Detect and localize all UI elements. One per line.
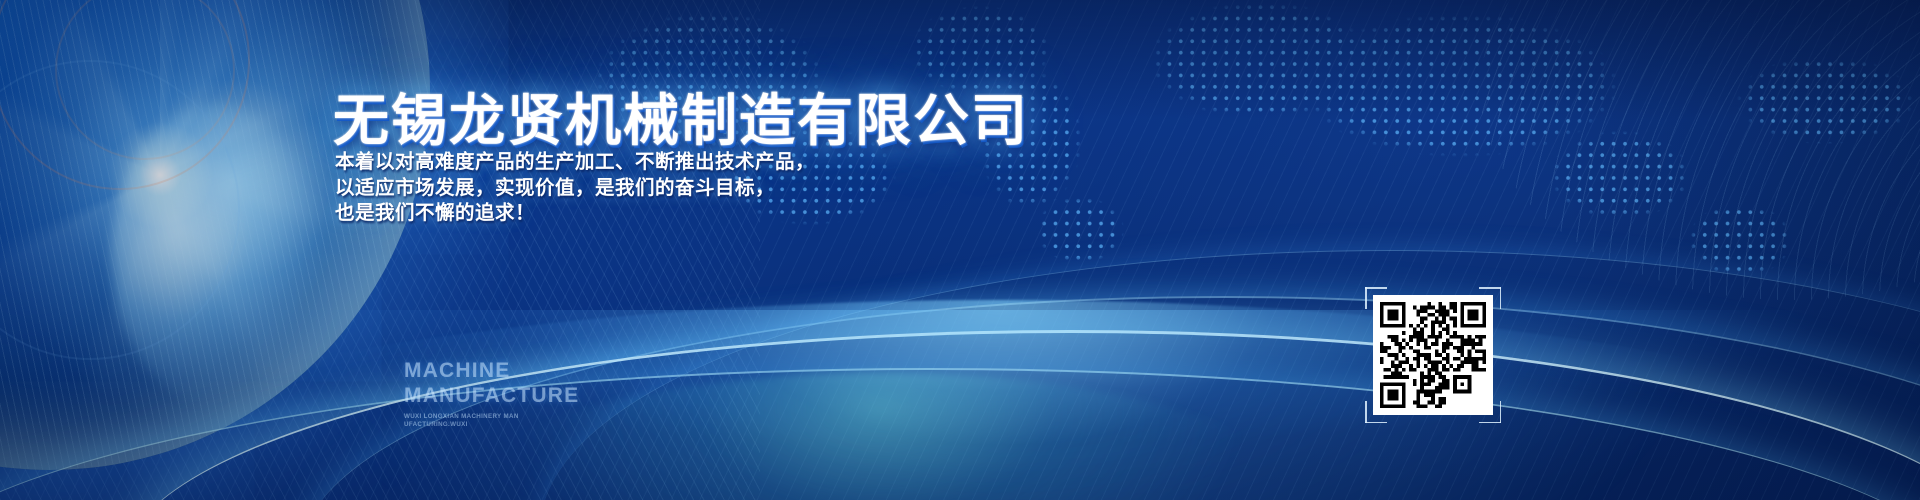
tagline-line-2: 以适应市场发展，实现价值，是我们的奋斗目标， [335, 176, 815, 202]
tagline-line-1: 本着以对高难度产品的生产加工、不断推出技术产品， [335, 150, 815, 176]
watermark-small-line-1: WUXI LONGXIAN MACHINERY MAN [404, 413, 579, 421]
company-tagline: 本着以对高难度产品的生产加工、不断推出技术产品， 以适应市场发展，实现价值，是我… [335, 150, 815, 227]
qr-code-block[interactable] [1365, 287, 1501, 423]
watermark-small-line-2: UFACTURING.WUXI [404, 421, 579, 429]
machine-manufacture-watermark: MACHINE MANUFACTURE WUXI LONGXIAN MACHIN… [404, 360, 579, 429]
watermark-small-text: WUXI LONGXIAN MACHINERY MAN UFACTURING.W… [404, 413, 579, 429]
tagline-line-3: 也是我们不懈的追求！ [335, 201, 815, 227]
watermark-line-1: MACHINE [404, 360, 579, 381]
watermark-line-2: MANUFACTURE [404, 385, 579, 406]
promotional-banner: 无锡龙贤机械制造有限公司 本着以对高难度产品的生产加工、不断推出技术产品， 以适… [0, 0, 1920, 500]
qr-code-icon[interactable] [1380, 302, 1486, 408]
qr-code-card[interactable] [1373, 295, 1493, 415]
banner-content: 无锡龙贤机械制造有限公司 本着以对高难度产品的生产加工、不断推出技术产品， 以适… [0, 0, 1920, 500]
company-title: 无锡龙贤机械制造有限公司 [333, 76, 1029, 157]
